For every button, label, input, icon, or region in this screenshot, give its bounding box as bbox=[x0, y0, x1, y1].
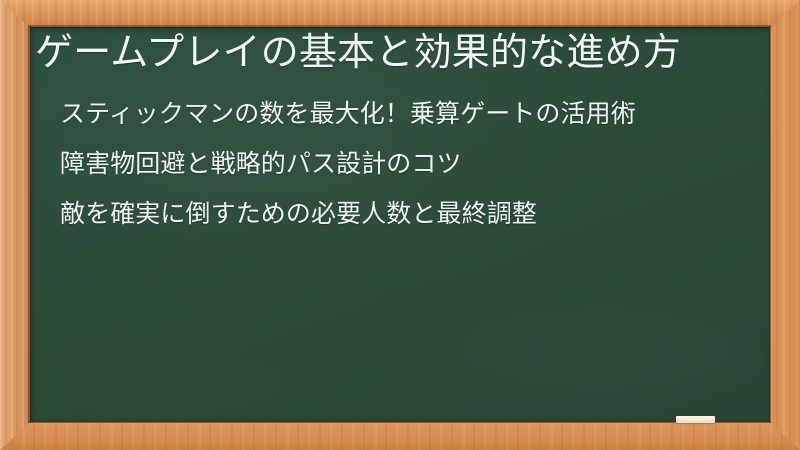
chalkboard-slide: ゲームプレイの基本と効果的な進め方 スティックマンの数を最大化！乗算ゲートの活用… bbox=[0, 0, 800, 450]
frame-plank-bottom bbox=[0, 422, 800, 450]
chalkboard-surface: ゲームプレイの基本と効果的な進め方 スティックマンの数を最大化！乗算ゲートの活用… bbox=[30, 27, 770, 422]
list-item: 障害物回避と戦略的パス設計のコツ bbox=[30, 147, 770, 181]
list-item: スティックマンの数を最大化！乗算ゲートの活用術 bbox=[30, 97, 770, 131]
frame-plank-right bbox=[770, 0, 800, 450]
list-item: 敵を確実に倒すための必要人数と最終調整 bbox=[30, 197, 770, 231]
chalk-stick-icon bbox=[676, 416, 715, 423]
frame-plank-top bbox=[0, 0, 800, 28]
topic-list: スティックマンの数を最大化！乗算ゲートの活用術 障害物回避と戦略的パス設計のコツ… bbox=[30, 97, 770, 247]
chalkboard-content: ゲームプレイの基本と効果的な進め方 スティックマンの数を最大化！乗算ゲートの活用… bbox=[30, 27, 770, 422]
page-title: ゲームプレイの基本と効果的な進め方 bbox=[35, 31, 763, 76]
frame-plank-left bbox=[0, 0, 30, 450]
